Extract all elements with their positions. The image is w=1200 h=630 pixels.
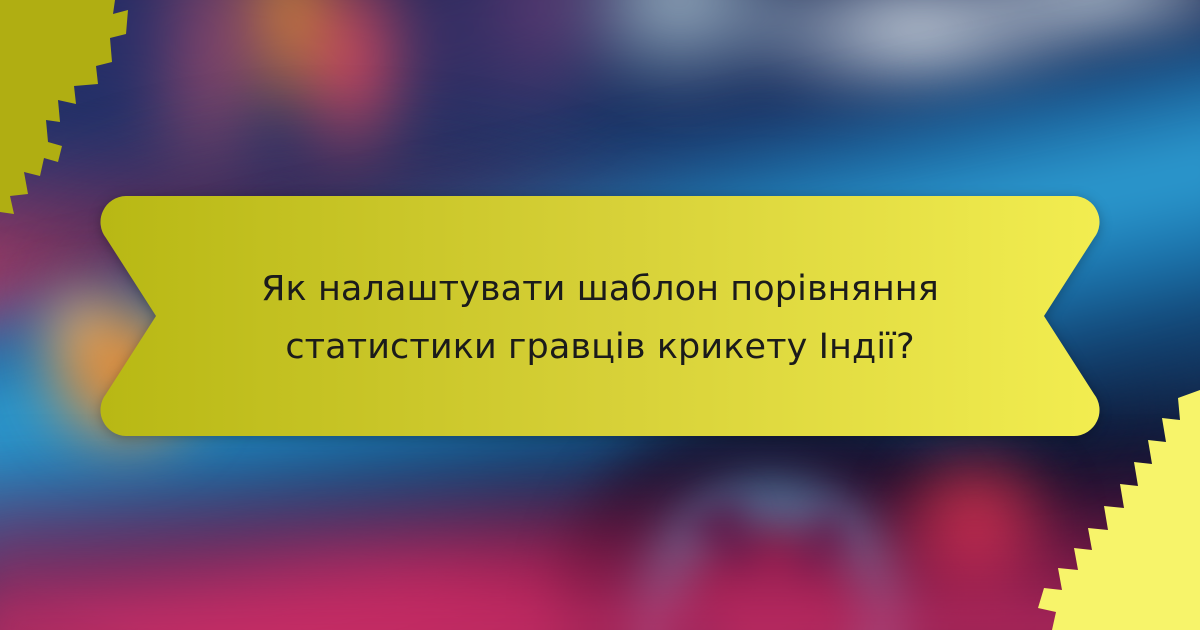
share-card: Як налаштувати шаблон порівняння статист… bbox=[0, 0, 1200, 630]
banner: Як налаштувати шаблон порівняння статист… bbox=[100, 196, 1100, 436]
headline-text: Як налаштувати шаблон порівняння статист… bbox=[170, 196, 1030, 438]
